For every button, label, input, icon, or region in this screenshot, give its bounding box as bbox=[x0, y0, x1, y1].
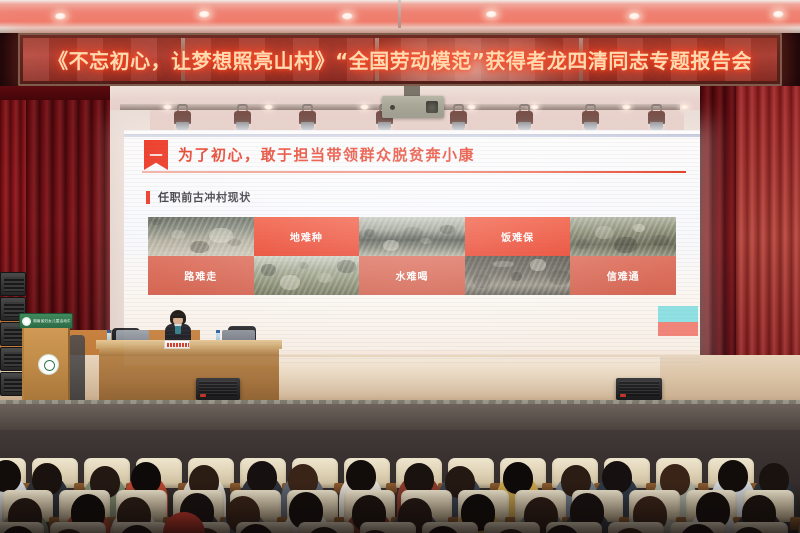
bottle-cap-icon bbox=[107, 330, 111, 333]
grid-label-text: 饭难保 bbox=[501, 229, 534, 244]
grid-label-text: 信难通 bbox=[607, 268, 640, 283]
lectern-sign-text: 湖南省妇女儿童活动中心 bbox=[33, 319, 70, 323]
stage-curtain-right-outer bbox=[736, 86, 800, 386]
soffit-downlight bbox=[467, 104, 476, 110]
stage-par-light bbox=[582, 104, 599, 130]
stage-par-light bbox=[450, 104, 467, 130]
grid-photo-cell bbox=[254, 256, 360, 295]
stage-par-light bbox=[174, 104, 191, 130]
projector-dial-icon bbox=[390, 105, 395, 110]
ceiling-seam bbox=[398, 0, 401, 30]
projection-screen: 一 为了初心，敢于担当带领群众脱贫奔小康 任职前古冲村现状 地难种饭难保路难走水… bbox=[124, 130, 700, 366]
slide-title: 为了初心，敢于担当带领群众脱贫奔小康 bbox=[178, 144, 475, 165]
curtain-valance-left bbox=[0, 86, 110, 100]
stage-monitor-left bbox=[196, 378, 240, 400]
grid-photo-pond bbox=[359, 217, 465, 256]
grid-photo-cell bbox=[570, 217, 676, 256]
lectern-body bbox=[22, 328, 70, 401]
ceiling-downlight bbox=[773, 11, 784, 18]
ceiling-downlight bbox=[199, 11, 210, 18]
slide-subtitle: 任职前古冲村现状 bbox=[158, 189, 251, 205]
organization-logo-icon bbox=[22, 317, 31, 326]
led-banner: 《不忘初心，让梦想照亮山村》“全国劳动模范”获得者龙四清同志专题报告会 bbox=[18, 33, 782, 86]
soffit-downlight bbox=[622, 104, 631, 110]
presentation-slide: 一 为了初心，敢于担当带领群众脱贫奔小康 任职前古冲村现状 地难种饭难保路难走水… bbox=[124, 130, 700, 366]
slide-subtitle-bar bbox=[146, 191, 150, 204]
slide-section-badge: 一 bbox=[144, 140, 168, 170]
light-lens-icon bbox=[518, 122, 531, 130]
head-table-trim bbox=[99, 348, 279, 356]
speaker-cabinet bbox=[0, 272, 26, 296]
grid-photo-buffalo bbox=[570, 217, 676, 256]
rear-wall bbox=[0, 404, 800, 430]
slide-top-rule bbox=[124, 134, 700, 137]
grid-label-text: 水难喝 bbox=[395, 268, 428, 283]
stage-par-light bbox=[299, 104, 316, 130]
light-lens-icon bbox=[584, 122, 597, 130]
photo-grain bbox=[254, 256, 360, 295]
stage-par-light bbox=[648, 104, 665, 130]
monitor-logo-icon bbox=[620, 394, 626, 397]
grid-photo-cell bbox=[465, 256, 571, 295]
stage-monitor-right bbox=[616, 378, 662, 400]
soffit-downlight bbox=[360, 104, 369, 110]
grid-label-text: 地难种 bbox=[290, 229, 323, 244]
presenter-fringe bbox=[171, 312, 185, 318]
light-lens-icon bbox=[236, 122, 249, 130]
slide-title-rule bbox=[142, 171, 686, 173]
lectern-emblem-icon bbox=[38, 354, 59, 375]
ppt-panel-cyan bbox=[658, 306, 698, 322]
grid-label-text: 路难走 bbox=[184, 268, 217, 283]
photo-grain bbox=[570, 217, 676, 256]
head-table-body bbox=[99, 348, 279, 404]
grid-photo-cell bbox=[148, 217, 254, 256]
grid-label-cell: 信难通 bbox=[570, 256, 676, 295]
light-lens-icon bbox=[301, 122, 314, 130]
presenter-nameplate bbox=[164, 340, 190, 349]
ppt-panel-red bbox=[658, 322, 698, 336]
presenter-scarf bbox=[175, 326, 181, 334]
stage-curtain-right-inner bbox=[700, 86, 740, 386]
audience-foreground-shadow bbox=[0, 483, 800, 533]
grid-label-cell: 路难走 bbox=[148, 256, 254, 295]
grid-label-cell: 地难种 bbox=[254, 217, 360, 256]
led-banner-panel: 《不忘初心，让梦想照亮山村》“全国劳动模范”获得者龙四清同志专题报告会 bbox=[23, 38, 777, 81]
nameplate-text bbox=[167, 343, 189, 347]
slide-photo-grid: 地难种饭难保路难走水难喝信难通 bbox=[148, 217, 676, 295]
stage-par-light bbox=[234, 104, 251, 130]
photo-grain bbox=[148, 217, 254, 256]
monitor-logo-icon bbox=[200, 394, 206, 397]
lectern-emblem-inner-icon bbox=[44, 360, 55, 371]
grid-photo-field bbox=[254, 256, 360, 295]
banner-title-text: 《不忘初心，让梦想照亮山村》“全国劳动模范”获得者龙四清同志专题报告会 bbox=[48, 45, 752, 74]
projector-lens-icon bbox=[426, 101, 438, 113]
soffit-downlight bbox=[264, 104, 273, 110]
grid-label-cell: 水难喝 bbox=[359, 256, 465, 295]
light-lens-icon bbox=[176, 122, 189, 130]
photo-grain bbox=[465, 256, 571, 295]
photo-grain bbox=[359, 217, 465, 256]
auditorium-scene: 《不忘初心，让梦想照亮山村》“全国劳动模范”获得者龙四清同志专题报告会 一 为了… bbox=[0, 0, 800, 533]
soffit-downlight bbox=[163, 104, 172, 110]
speaker-grill bbox=[4, 277, 24, 292]
grid-photo-road bbox=[148, 217, 254, 256]
ceiling-downlight bbox=[486, 11, 497, 18]
grid-photo-meal bbox=[465, 256, 571, 295]
stage-par-light bbox=[516, 104, 533, 130]
light-lens-icon bbox=[452, 122, 465, 130]
audience-area bbox=[0, 404, 800, 533]
light-lens-icon bbox=[378, 122, 391, 130]
grid-label-cell: 饭难保 bbox=[465, 217, 571, 256]
lectern: 湖南省妇女儿童活动中心 bbox=[19, 313, 73, 401]
bottle-cap-icon bbox=[216, 330, 220, 333]
ceiling-projector bbox=[382, 96, 444, 118]
grid-photo-cell bbox=[359, 217, 465, 256]
slide-section-number: 一 bbox=[149, 145, 162, 164]
light-lens-icon bbox=[650, 122, 663, 130]
lectern-sign: 湖南省妇女儿童活动中心 bbox=[19, 313, 73, 329]
